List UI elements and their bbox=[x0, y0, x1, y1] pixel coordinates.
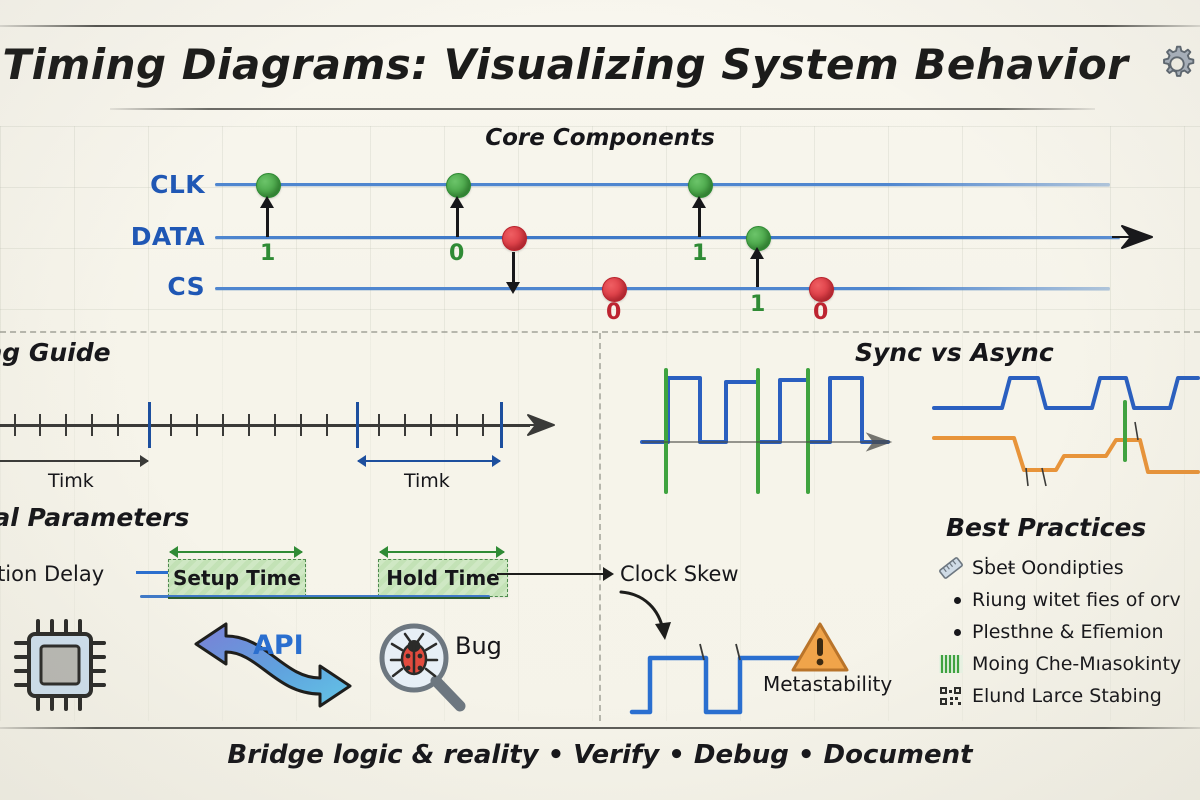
bottom-rule bbox=[0, 727, 1200, 729]
hold-time-box: Hold Time bbox=[378, 559, 508, 597]
top-rule bbox=[0, 25, 1200, 27]
best-practices-list: Sḃeŧ Oondipties Riung witet fies of orv … bbox=[938, 552, 1200, 712]
list-item-label: Elund Larce Stabing bbox=[972, 685, 1162, 707]
timeline-span-right bbox=[358, 460, 500, 462]
marker-node-green bbox=[256, 173, 281, 198]
gear-icon bbox=[1156, 43, 1198, 95]
green-bars-icon bbox=[938, 653, 964, 675]
api-label: API bbox=[253, 630, 304, 661]
section-heading-core-components: Core Components bbox=[0, 125, 1200, 151]
bullet-dot bbox=[954, 629, 961, 636]
timeline-axis-arrowhead bbox=[520, 413, 556, 441]
bug-label: Bug bbox=[455, 632, 502, 660]
parameter-baseline bbox=[168, 597, 490, 599]
marker-arrow-up bbox=[698, 205, 701, 237]
clock-skew-label: Clock Skew bbox=[620, 562, 739, 586]
list-item: Riung witet fies of orv bbox=[938, 584, 1200, 616]
marker-node-red bbox=[502, 226, 527, 251]
marker-node-green bbox=[688, 173, 713, 198]
marker-value: 1 bbox=[750, 292, 765, 317]
setup-time-box: Setup Time bbox=[168, 559, 306, 597]
sync-waveform bbox=[640, 360, 900, 499]
list-item: Moing Che-Mıasokinty bbox=[938, 648, 1200, 680]
metastability-label: Metastability bbox=[763, 672, 892, 696]
waveform-line-clk bbox=[215, 183, 1110, 186]
marker-value: 1 bbox=[692, 241, 707, 266]
marker-arrow-down bbox=[512, 252, 515, 285]
marker-node-green bbox=[446, 173, 471, 198]
divider-vertical bbox=[599, 333, 601, 721]
marker-arrow-up bbox=[456, 205, 459, 237]
list-item: Elund Larce Stabing bbox=[938, 680, 1200, 712]
list-item-label: Moing Che-Mıasokinty bbox=[972, 653, 1181, 675]
propagation-delay-label: agation Delay bbox=[0, 562, 104, 586]
setup-time-span-arrow bbox=[170, 551, 302, 553]
warning-triangle-icon bbox=[790, 620, 850, 678]
section-heading-reading-guide: ding Guide bbox=[0, 338, 111, 367]
timeline-axis bbox=[0, 424, 530, 427]
async-waveform bbox=[930, 360, 1200, 499]
timeline-major-tick bbox=[148, 402, 151, 448]
marker-arrow-up bbox=[266, 205, 269, 237]
section-heading-critical-parameters: tical Parameters bbox=[0, 503, 189, 532]
list-item: Sḃeŧ Oondipties bbox=[938, 552, 1200, 584]
qr-grid-icon bbox=[938, 685, 964, 707]
cpu-chip-icon bbox=[12, 615, 108, 719]
timeline-major-tick bbox=[356, 402, 359, 448]
list-item-label: Riung witet fies of orv bbox=[972, 589, 1181, 611]
list-item-label: Sḃeŧ Oondipties bbox=[972, 557, 1124, 579]
page-title: Timing Diagrams: Visualizing System Beha… bbox=[0, 40, 1200, 95]
signal-label-clk: CLK bbox=[85, 170, 205, 199]
waveform-line-cs bbox=[215, 287, 1110, 290]
footer-tagline: Bridge logic & reality • Verify • Debug … bbox=[0, 740, 1200, 770]
timeline-span-label: Timk bbox=[48, 470, 94, 492]
clock-skew-leader-line bbox=[497, 573, 612, 575]
hold-time-label: Hold Time bbox=[386, 566, 500, 590]
marker-value: 0 bbox=[606, 300, 621, 325]
marker-node-red bbox=[809, 277, 834, 302]
timeline-major-tick bbox=[500, 402, 503, 448]
timeline-span-left bbox=[0, 460, 148, 462]
list-item: Plesthne & Efīemion bbox=[938, 616, 1200, 648]
page-title-text: Timing Diagrams: Visualizing System Beha… bbox=[2, 40, 1128, 89]
setup-time-label: Setup Time bbox=[173, 566, 301, 590]
data-axis-arrowhead bbox=[1112, 224, 1154, 254]
marker-value: 0 bbox=[813, 300, 828, 325]
marker-value: 1 bbox=[260, 241, 275, 266]
marker-node-red bbox=[602, 277, 627, 302]
poster-canvas: Timing Diagrams: Visualizing System Beha… bbox=[0, 0, 1200, 800]
signal-label-data: DATA bbox=[85, 222, 205, 251]
bullet-dot bbox=[954, 597, 961, 604]
section-heading-best-practices: Best Practices bbox=[946, 513, 1146, 542]
marker-value: 0 bbox=[449, 241, 464, 266]
ruler-icon bbox=[938, 557, 964, 579]
signal-label-cs: CS bbox=[85, 272, 205, 301]
hold-time-span-arrow bbox=[380, 551, 504, 553]
waveform-line-data bbox=[215, 236, 1120, 239]
title-underline bbox=[110, 108, 1095, 110]
marker-arrow-up bbox=[756, 256, 759, 287]
timeline-span-label: Timk bbox=[404, 470, 450, 492]
list-item-label: Plesthne & Efīemion bbox=[972, 621, 1164, 643]
